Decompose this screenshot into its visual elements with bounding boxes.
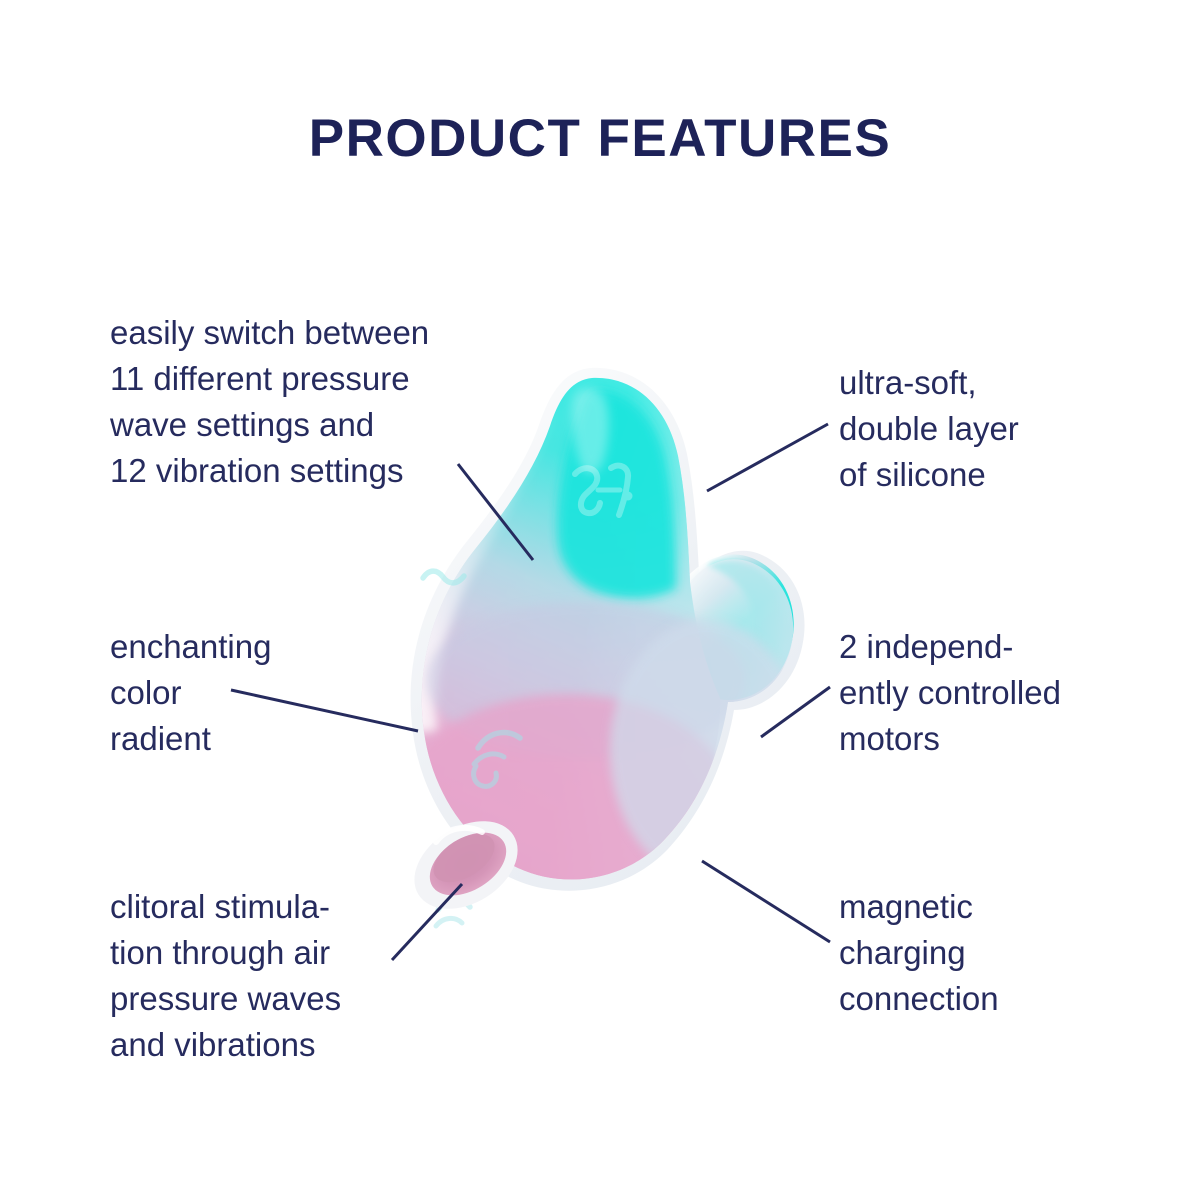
product-features-infographic: PRODUCT FEATURES [0, 0, 1200, 1200]
callout-enchanting-color-radient: enchanting color radient [110, 624, 410, 762]
callout-two-independently-controlled-motors: 2 independ- ently controlled motors [839, 624, 1139, 762]
callout-clitoral-stimulation: clitoral stimula- tion through air press… [110, 884, 430, 1068]
callout-easily-switch-between-settings: easily switch between 11 different press… [110, 310, 510, 494]
callout-ultra-soft-double-layer-silicone: ultra-soft, double layer of silicone [839, 360, 1139, 498]
callout-magnetic-charging-connection: magnetic charging connection [839, 884, 1139, 1022]
page-title: PRODUCT FEATURES [0, 108, 1200, 169]
